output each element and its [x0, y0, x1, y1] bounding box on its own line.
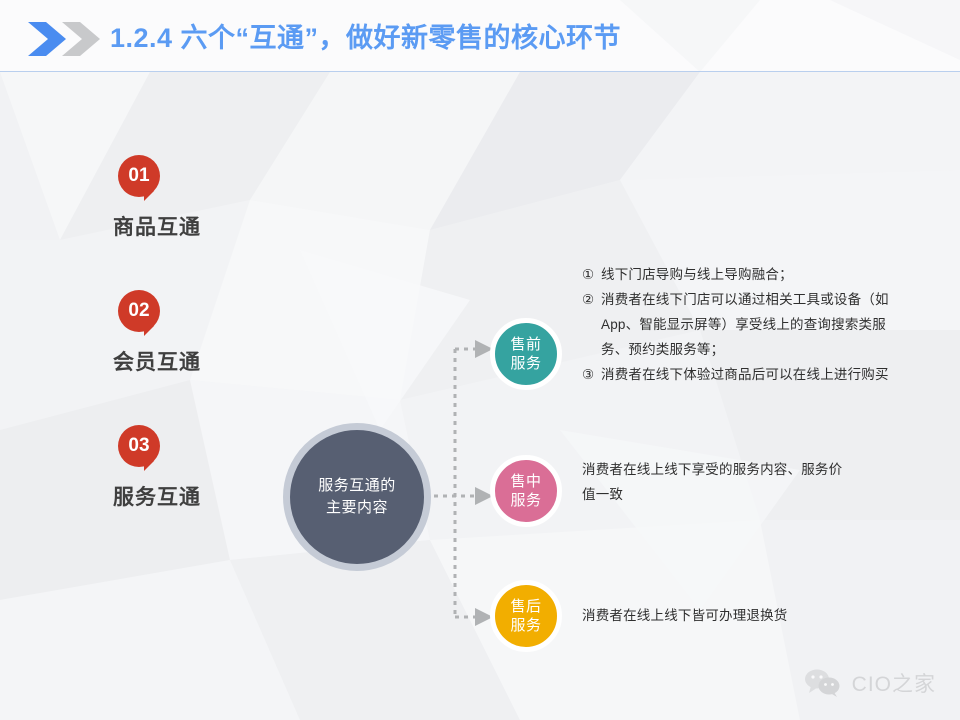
description-post-sale: 消费者在线上线下皆可办理退换货 [582, 603, 882, 628]
watermark-text: CIO之家 [852, 668, 936, 698]
description-pre-sale: ① 线下门店导购与线上导购融合； ② 消费者在线下门店可以通过相关工具或设备（如… [582, 262, 892, 387]
badge-01-number: 01 [118, 155, 160, 197]
page-title: 1.2.4 六个“互通”，做好新零售的核心环节 [110, 19, 621, 57]
left-item-03: 03 服务互通 [118, 425, 201, 511]
badge-02-number: 02 [118, 290, 160, 332]
badge-02: 02 [118, 290, 164, 336]
left-item-01: 01 商品互通 [118, 155, 201, 241]
list-marker: ① [582, 262, 594, 287]
stage-circle-post-sale-label: 售后 服务 [510, 597, 541, 635]
description-mid-sale: 消费者在线上线下享受的服务内容、服务价值一致 [582, 457, 850, 507]
wechat-icon [803, 668, 843, 698]
watermark: CIO之家 [803, 668, 936, 698]
list-marker: ② [582, 287, 594, 312]
list-marker: ③ [582, 362, 594, 387]
center-node-label: 服务互通的 主要内容 [318, 475, 396, 519]
slide-canvas: 1.2.4 六个“互通”，做好新零售的核心环节 01 商品互通 02 会员互通 [0, 0, 960, 720]
stage-circle-post-sale: 售后 服务 [490, 580, 562, 652]
list-text: 消费者在线下门店可以通过相关工具或设备（如App、智能显示屏等）享受线上的查询搜… [601, 292, 889, 357]
center-node: 服务互通的 主要内容 [283, 423, 431, 571]
header-divider [0, 71, 960, 72]
stage-circle-pre-sale-label: 售前 服务 [510, 335, 541, 373]
stage-circle-mid-sale-label: 售中 服务 [510, 472, 541, 510]
stage-circle-pre-sale: 售前 服务 [490, 318, 562, 390]
slide-header: 1.2.4 六个“互通”，做好新零售的核心环节 [0, 0, 960, 72]
badge-01: 01 [118, 155, 164, 201]
description-pre-sale-list: ① 线下门店导购与线上导购融合； ② 消费者在线下门店可以通过相关工具或设备（如… [582, 262, 892, 387]
left-item-01-label: 商品互通 [113, 211, 201, 241]
list-item: ① 线下门店导购与线上导购融合； [582, 262, 892, 287]
stage-circle-mid-sale: 售中 服务 [490, 455, 562, 527]
left-item-02: 02 会员互通 [118, 290, 201, 376]
double-chevron-icon [28, 22, 102, 56]
left-item-03-label: 服务互通 [113, 481, 201, 511]
badge-03-number: 03 [118, 425, 160, 467]
badge-03: 03 [118, 425, 164, 471]
list-item: ② 消费者在线下门店可以通过相关工具或设备（如App、智能显示屏等）享受线上的查… [582, 287, 892, 362]
left-item-02-label: 会员互通 [113, 346, 201, 376]
list-item: ③ 消费者在线下体验过商品后可以在线上进行购买 [582, 362, 892, 387]
list-text: 线下门店导购与线上导购融合； [601, 267, 793, 282]
list-text: 消费者在线下体验过商品后可以在线上进行购买 [601, 367, 889, 382]
